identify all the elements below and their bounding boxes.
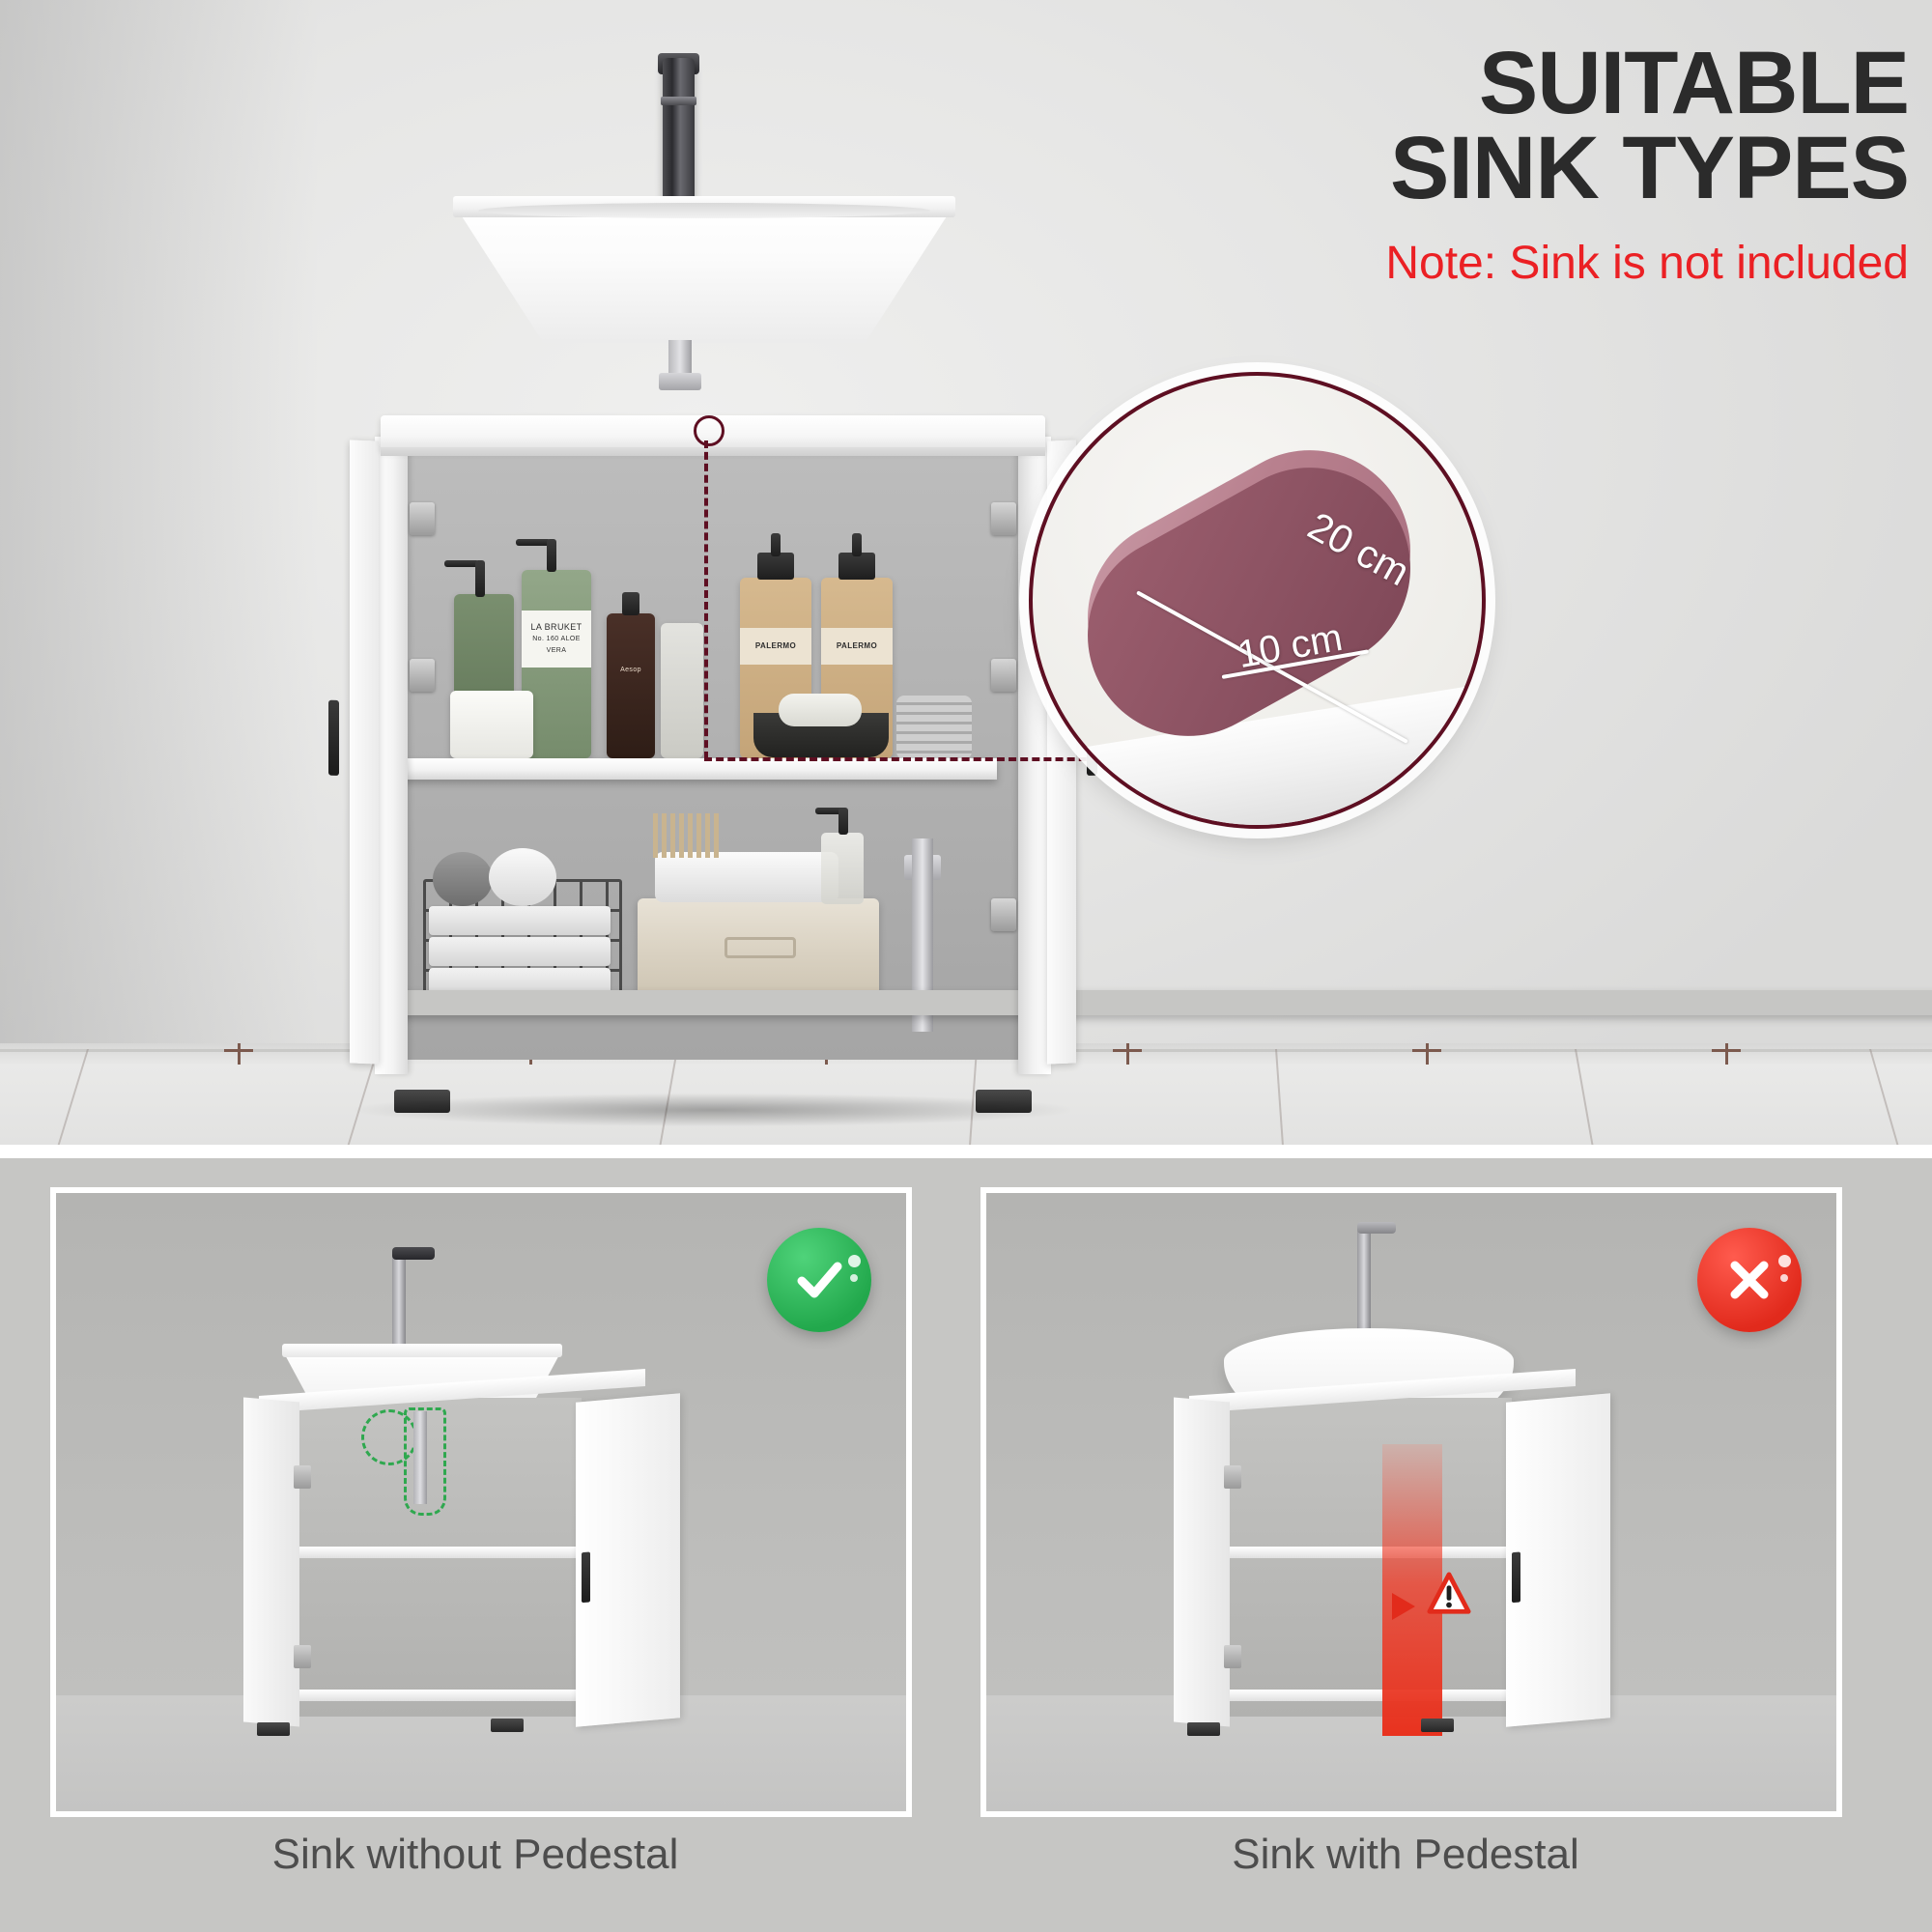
bottle-cap: [838, 553, 875, 580]
hinge-icon: [294, 1645, 311, 1668]
dimension-callout-circle: 20 cm 10 cm: [1029, 372, 1486, 829]
cabinet-bottom-shelf: [375, 990, 1932, 1015]
pump-head: [516, 539, 551, 546]
tile-seam: [58, 1049, 89, 1145]
tile-star: [1412, 1043, 1441, 1065]
cream-jar: [450, 691, 533, 758]
tile-seam: [1575, 1049, 1593, 1145]
door-handle-right[interactable]: [1512, 1551, 1520, 1603]
pump-stem: [771, 533, 781, 556]
warning-triangle-icon: [1427, 1572, 1471, 1616]
bottle-label: PALERMO: [821, 628, 893, 665]
rattan-basket-handle: [724, 937, 796, 958]
bottle-aesop: Aesop: [607, 613, 655, 758]
cabinet-door-left[interactable]: [350, 440, 379, 1064]
folded-towel: [429, 906, 611, 935]
faucet-icon: [663, 58, 695, 217]
tile-star: [1712, 1043, 1741, 1065]
status-badge-ok: [767, 1228, 871, 1332]
sink-not-included-note: Note: Sink is not included: [1001, 237, 1909, 290]
cabinet-middle-shelf: [371, 758, 997, 780]
cabinet-door-right[interactable]: [1506, 1393, 1610, 1726]
cabinet-floor-shadow: [355, 1094, 1070, 1126]
warning-arrow-icon: [1392, 1593, 1415, 1620]
cabinet-top-edge: [381, 447, 1045, 456]
lotion-pump-bottle: [821, 833, 864, 904]
sink-basin: [453, 203, 955, 343]
vessel-sink-assembly: [440, 58, 980, 425]
cabinet-door-left[interactable]: [243, 1397, 299, 1726]
headline-block: SUITABLE SINK TYPES Note: Sink is not in…: [1001, 41, 1909, 290]
comparison-section: Sink without Pedestal Sink with Pedestal: [0, 1145, 1932, 1932]
pump-head: [444, 560, 479, 567]
infographic-stage: meraki LA BRUKET No. 160 ALOE VERA Aeso: [0, 0, 1932, 1932]
faucet-ring: [661, 97, 696, 105]
panel-sink-without-pedestal: [50, 1187, 912, 1817]
badge-highlight-dot-small: [850, 1274, 858, 1282]
cabinet-foot-right: [491, 1719, 524, 1732]
cross-icon: [1719, 1250, 1779, 1310]
hinge-icon: [991, 898, 1016, 931]
cabinet-left-panel: [375, 437, 408, 1074]
mini-cabinet-without-pedestal: [238, 1382, 692, 1769]
drain-collar: [659, 373, 701, 390]
plate-stack: [896, 696, 972, 759]
caption-with-pedestal: Sink with Pedestal: [980, 1831, 1831, 1879]
hero-scene: meraki LA BRUKET No. 160 ALOE VERA Aeso: [0, 0, 1932, 1145]
bottle-label: Aesop: [607, 667, 655, 675]
hinge-icon: [410, 502, 435, 535]
cabinet-door-left[interactable]: [1174, 1397, 1230, 1726]
panel-sink-with-pedestal: [980, 1187, 1842, 1817]
cabinet-middle-shelf: [288, 1547, 585, 1558]
rolled-towel-light: [489, 848, 556, 906]
under-sink-cabinet: meraki LA BRUKET No. 160 ALOE VERA Aeso: [375, 415, 1051, 1092]
hinge-icon: [991, 659, 1016, 692]
drain-pipe: [413, 1411, 427, 1504]
faucet-spout: [392, 1247, 435, 1260]
rolled-towel-dark: [433, 852, 493, 906]
hinge-icon: [991, 502, 1016, 535]
cabinet-middle-shelf: [1218, 1547, 1516, 1558]
check-icon: [789, 1250, 849, 1310]
badge-highlight-dot: [848, 1255, 861, 1267]
sink-inner-bowl: [478, 203, 930, 218]
bottle-label: PALERMO: [740, 628, 811, 665]
sink-rim: [282, 1344, 562, 1357]
bottle-cap: [622, 592, 639, 615]
bottle-label: LA BRUKET No. 160 ALOE VERA: [522, 611, 591, 668]
cabinet-foot-right: [1421, 1719, 1454, 1732]
cabinet-foot-left: [257, 1722, 290, 1736]
tile-seam: [1275, 1049, 1284, 1145]
comb-set: [653, 813, 721, 858]
folded-towel: [429, 937, 611, 966]
title-line-1: SUITABLE: [1479, 34, 1909, 132]
wall-shadow: [0, 0, 319, 1058]
folded-towel-basket: [655, 852, 838, 902]
caption-without-pedestal: Sink without Pedestal: [50, 1831, 900, 1879]
tile-seam: [1869, 1049, 1898, 1145]
soap-bar: [779, 694, 862, 726]
door-handle-left[interactable]: [328, 700, 339, 776]
cabinet-bottom-shelf: [1218, 1690, 1516, 1701]
pump-stem: [475, 560, 485, 597]
page-title: SUITABLE SINK TYPES: [1001, 41, 1909, 212]
leader-line-vertical: [704, 440, 708, 759]
mini-cabinet-with-pedestal: [1168, 1382, 1622, 1769]
faucet-icon: [1357, 1228, 1371, 1336]
cabinet-door-right[interactable]: [576, 1393, 680, 1726]
pump-stem: [547, 539, 556, 572]
cutout-marker-ring: [694, 415, 724, 446]
section-divider: [0, 1145, 1932, 1158]
tile-star: [1113, 1043, 1142, 1065]
title-line-2: SINK TYPES: [1390, 119, 1909, 217]
tile-star: [224, 1043, 253, 1065]
hinge-icon: [1224, 1465, 1241, 1489]
hinge-icon: [410, 659, 435, 692]
badge-highlight-dot: [1778, 1255, 1791, 1267]
hinge-icon: [294, 1465, 311, 1489]
hinge-icon: [1224, 1645, 1241, 1668]
door-handle-right[interactable]: [582, 1551, 590, 1603]
badge-highlight-dot-small: [1780, 1274, 1788, 1282]
bottle-cap: [757, 553, 794, 580]
bottle-spray: [661, 623, 703, 758]
pump-stem: [852, 533, 862, 556]
pump-stem: [838, 808, 848, 835]
faucet-spout: [1357, 1222, 1396, 1234]
status-badge-not-ok: [1697, 1228, 1802, 1332]
cabinet-foot-left: [1187, 1722, 1220, 1736]
cabinet-bottom-shelf: [288, 1690, 585, 1701]
